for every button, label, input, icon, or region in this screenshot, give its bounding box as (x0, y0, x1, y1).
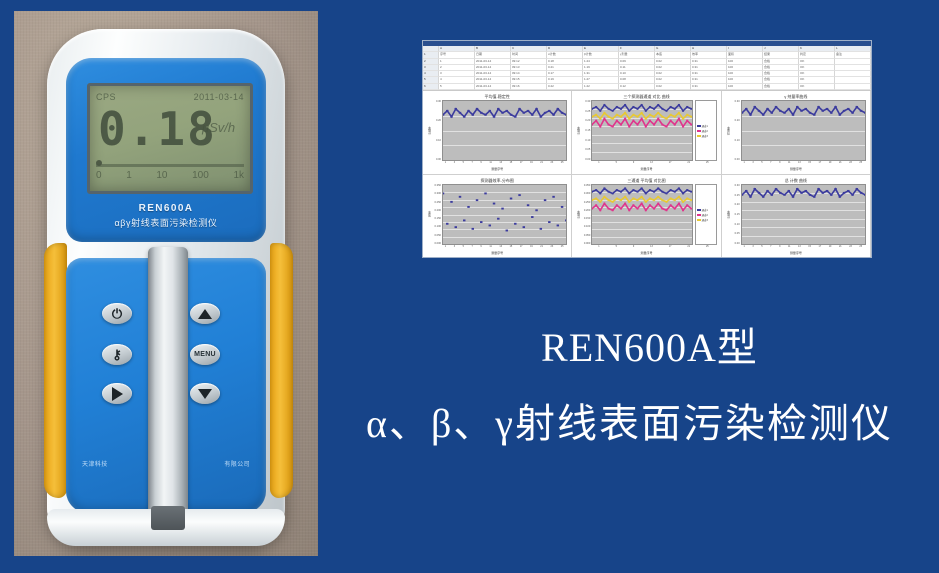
chart-data-point (608, 124, 610, 126)
chart-data-point (682, 126, 684, 128)
chart-data-point (834, 106, 836, 108)
chart-data-point (817, 106, 819, 108)
chart-data-point (557, 108, 559, 110)
chart-data-point (633, 204, 635, 206)
chart-data-point (834, 188, 836, 190)
chart-x-axis-label: 测量序号 (576, 167, 716, 172)
chart-data-point (649, 204, 651, 206)
spreadsheet-cell[interactable] (835, 84, 871, 90)
spreadsheet-cell[interactable]: 1.22 (583, 84, 619, 90)
chart-panel[interactable]: γ 剂量率曲线剂量率0.300.200.100.0013579111315171… (722, 91, 871, 175)
chart-data-point (762, 196, 764, 198)
chart-data-point (565, 114, 566, 116)
chart-series-line (742, 107, 865, 115)
chart-panel[interactable]: 三通道 平均值 对比图计数率0.3500.3000.2500.2000.1500… (572, 175, 721, 258)
chart-data-point (691, 108, 692, 110)
chart-data-point (821, 192, 823, 194)
chart-data-point (662, 199, 664, 201)
lcd-status-left: CPS (96, 92, 116, 102)
chart-data-point (674, 208, 676, 210)
chart-data-point (645, 110, 647, 112)
chart-y-tick: 0.10 (432, 139, 441, 142)
chart-data-point (666, 126, 668, 128)
chart-plot-area (591, 184, 692, 245)
chart-data-point (783, 112, 785, 114)
chart-data-point (847, 190, 849, 192)
chart-body: 计数率0.300.200.100.00 (427, 100, 567, 161)
chart-legend-label: 通道3 (702, 218, 708, 222)
chart-data-point (450, 201, 452, 203)
chart-data-point (604, 118, 606, 120)
chart-y-tick: 0.350 (581, 184, 590, 187)
chart-data-point (592, 116, 593, 118)
chart-data-point (783, 194, 785, 196)
chart-data-point (480, 221, 482, 223)
lcd-unit: μSv/h (202, 120, 235, 135)
chart-data-point (443, 192, 444, 194)
chart-y-axis: 0.3500.3000.2500.2000.1500.1000.0500.000 (432, 184, 442, 245)
chart-data-point (624, 118, 626, 120)
chart-data-point (620, 124, 622, 126)
chart-plot-area (442, 100, 567, 161)
chart-data-point (624, 196, 626, 198)
chart-data-point (658, 112, 660, 114)
device-center-strip (148, 247, 188, 541)
menu-button[interactable]: MENU (190, 344, 220, 365)
chart-y-tick: 0.30 (731, 100, 740, 103)
chart-plot-area (741, 184, 866, 245)
chart-y-tick: 0.30 (581, 100, 590, 103)
chart-data-point (753, 106, 755, 108)
product-model-title: REN600A型 (360, 315, 939, 373)
chart-data-point (484, 192, 486, 194)
chart-data-point (595, 204, 597, 206)
device-branding: REN600A αβγ射线表面污染检测仪 (66, 203, 266, 229)
chart-data-point (821, 110, 823, 112)
chart-data-point (757, 192, 759, 194)
chart-y-tick: 0.150 (432, 217, 441, 220)
chart-data-point (864, 194, 865, 196)
chart-data-point (633, 106, 635, 108)
chart-y-tick: 0.25 (731, 194, 740, 197)
chart-data-point (604, 203, 606, 205)
chart-data-point (600, 201, 602, 203)
chart-legend: 通道1通道2通道3 (695, 100, 717, 161)
chart-series-svg (742, 101, 865, 160)
chart-legend-item: 通道1 (697, 124, 715, 128)
chart-data-point (804, 190, 806, 192)
chart-data-point (476, 108, 478, 110)
chart-data-point (641, 112, 643, 114)
chart-data-point (742, 194, 743, 196)
chart-data-point (592, 124, 593, 126)
software-screenshot: ABCDEFGHIJKL1序号日期时间α计数β计数γ剂量本底效率面积结果判定备注… (422, 40, 872, 258)
chart-data-point (678, 104, 680, 106)
chart-data-point (557, 225, 559, 227)
chart-y-axis-label: 计数率 (576, 184, 581, 245)
chart-data-point (612, 118, 614, 120)
device-bottom-labels: 天津科技 有限公司 (66, 459, 266, 475)
chart-y-axis-label: 效率 (427, 184, 432, 245)
chart-data-point (691, 208, 692, 210)
chart-data-point (691, 124, 692, 126)
chart-data-point (620, 116, 622, 118)
chart-data-point (604, 112, 606, 114)
chart-data-point (670, 120, 672, 122)
chart-data-point (616, 114, 618, 116)
chart-y-tick: 0.20 (432, 119, 441, 122)
chart-data-point (595, 106, 597, 108)
chart-data-point (616, 198, 618, 200)
chart-data-point (662, 116, 664, 118)
chart-data-point (645, 209, 647, 211)
spreadsheet-cell[interactable]: 0.02 (655, 84, 691, 90)
chart-panel[interactable]: 总 计数 曲线计数率0.300.250.200.150.100.050.0013… (722, 175, 871, 258)
chart-series-line (592, 119, 691, 127)
chart-data-point (649, 198, 651, 200)
chart-data-point (608, 208, 610, 210)
chart-data-point (624, 112, 626, 114)
chart-data-point (629, 201, 631, 203)
chart-data-point (612, 110, 614, 112)
chart-legend-label: 通道1 (702, 208, 708, 212)
chart-legend-swatch (697, 125, 701, 127)
chart-data-point (612, 209, 614, 211)
chart-data-point (687, 120, 689, 122)
chart-panel[interactable]: 三个探测器通道 对比 曲线计数率0.300.250.200.150.100.05… (572, 91, 721, 175)
chart-data-point (649, 114, 651, 116)
chart-data-point (443, 114, 444, 116)
chart-data-point (796, 188, 798, 190)
chart-data-point (629, 209, 631, 211)
chart-data-point (670, 198, 672, 200)
chart-data-point (633, 114, 635, 116)
chart-data-point (624, 203, 626, 205)
chart-x-axis-label: 测量序号 (726, 251, 866, 256)
chart-data-point (595, 114, 597, 116)
chart-plot-area (442, 184, 567, 245)
chart-data-point (600, 209, 602, 211)
chart-body: 计数率0.3500.3000.2500.2000.1500.1000.0500.… (576, 184, 716, 245)
spreadsheet-grid[interactable]: ABCDEFGHIJKL1序号日期时间α计数β计数γ剂量本底效率面积结果判定备注… (423, 46, 871, 91)
chart-data-point (455, 108, 457, 110)
up-button[interactable] (190, 303, 220, 324)
chart-y-axis-label: 计数率 (427, 100, 432, 161)
chart-x-axis-label: 测量序号 (427, 251, 567, 256)
chart-data-point (629, 118, 631, 120)
spreadsheet-cell[interactable]: 2011-03-14 (475, 84, 511, 90)
chart-data-point (592, 108, 593, 110)
device-grip-right (270, 243, 293, 498)
chart-body: 计数率0.300.250.200.150.100.050.00 (726, 184, 866, 245)
chart-data-point (612, 126, 614, 128)
chart-data-point (678, 112, 680, 114)
chart-y-tick: 0.15 (731, 213, 740, 216)
chart-series-svg (592, 185, 691, 244)
chart-data-point (670, 106, 672, 108)
chart-data-point (674, 116, 676, 118)
chart-data-point (687, 114, 689, 116)
chart-data-point (649, 120, 651, 122)
chart-data-point (838, 196, 840, 198)
spreadsheet-cell[interactable]: 09:16 (511, 84, 547, 90)
chart-data-point (510, 198, 512, 200)
lcd-scale-tick: 100 (192, 170, 209, 184)
chart-data-point (662, 208, 664, 210)
chart-data-point (808, 194, 810, 196)
chart-body: 效率0.3500.3000.2500.2000.1500.1000.0500.0… (427, 184, 567, 245)
key-icon: ⚷ (112, 348, 122, 361)
lcd-status-right: 2011-03-14 (194, 92, 244, 102)
chart-data-point (600, 118, 602, 120)
chart-y-axis: 0.300.200.100.00 (432, 100, 442, 161)
chart-y-tick: 0.10 (731, 139, 740, 142)
chart-series-svg (592, 101, 691, 160)
chart-panel[interactable]: 探测器效率-分布图效率0.3500.3000.2500.2000.1500.10… (423, 175, 572, 258)
chart-data-point (518, 194, 520, 196)
chart-series-line (443, 109, 566, 117)
chart-data-point (637, 108, 639, 110)
chart-data-point (548, 110, 550, 112)
chart-legend-swatch (697, 130, 701, 132)
chart-data-point (501, 112, 503, 114)
chart-data-point (653, 208, 655, 210)
spreadsheet-cell[interactable]: 0.22 (547, 84, 583, 90)
spreadsheet-cell[interactable]: 5 (439, 84, 475, 90)
chart-data-point (687, 189, 689, 191)
chart-data-point (666, 118, 668, 120)
chart-data-point (859, 110, 861, 112)
chart-data-point (855, 188, 857, 190)
chart-data-point (608, 108, 610, 110)
chart-legend-item: 通道2 (697, 213, 715, 217)
spreadsheet-cell[interactable]: OK (799, 84, 835, 90)
device-bottom-label-right: 有限公司 (224, 459, 250, 475)
chart-data-point (595, 120, 597, 122)
chart-data-point (600, 110, 602, 112)
chart-data-point (674, 191, 676, 193)
chart-data-point (800, 192, 802, 194)
chart-data-point (687, 204, 689, 206)
chart-data-point (774, 188, 776, 190)
chart-data-point (753, 188, 755, 190)
chart-data-point (666, 110, 668, 112)
chart-data-point (645, 201, 647, 203)
chart-data-point (658, 203, 660, 205)
chart-data-point (592, 191, 593, 193)
chart-y-tick: 0.05 (581, 148, 590, 151)
chart-y-tick: 0.300 (432, 192, 441, 195)
lcd-reading: 0.18 (98, 106, 217, 152)
chart-y-tick: 0.100 (432, 225, 441, 228)
chart-data-point (678, 196, 680, 198)
title-block: REN600A型 α、β、γ射线表面污染检测仪 (320, 315, 939, 449)
chart-data-point (666, 192, 668, 194)
chart-data-point (682, 192, 684, 194)
spreadsheet-cell[interactable]: 100 (727, 84, 763, 90)
chart-data-point (616, 189, 618, 191)
lcd-scale: 0 1 10 100 1k (96, 170, 244, 184)
chart-data-point (637, 116, 639, 118)
chart-data-point (825, 108, 827, 110)
chart-y-tick: 0.200 (432, 209, 441, 212)
chart-y-tick: 0.300 (581, 192, 590, 195)
chart-data-point (855, 106, 857, 108)
chart-panel[interactable]: 平均值-稳定性计数率0.300.200.100.0013579111315171… (423, 91, 572, 175)
chart-y-tick: 0.05 (731, 232, 740, 235)
chart-data-point (612, 192, 614, 194)
product-description-title: α、β、γ射线表面污染检测仪 (320, 391, 939, 449)
chart-data-point (595, 189, 597, 191)
chart-data-point (762, 114, 764, 116)
chart-data-point (678, 203, 680, 205)
chart-data-point (523, 112, 525, 114)
chart-data-point (616, 120, 618, 122)
chart-data-point (552, 114, 554, 116)
chart-data-point (817, 188, 819, 190)
chart-data-point (600, 126, 602, 128)
chart-y-tick: 0.150 (581, 217, 590, 220)
chart-legend-item: 通道1 (697, 208, 715, 212)
chart-data-point (459, 112, 461, 114)
chart-data-point (813, 114, 815, 116)
chart-data-point (658, 118, 660, 120)
chart-data-point (608, 199, 610, 201)
chart-data-point (527, 204, 529, 206)
chart-data-point (629, 192, 631, 194)
chart-data-point (749, 114, 751, 116)
chart-legend-swatch (697, 209, 701, 211)
chart-data-point (624, 187, 626, 189)
chart-data-point (674, 108, 676, 110)
chart-data-point (864, 112, 865, 114)
chart-data-point (450, 116, 452, 118)
play-triangle-icon (112, 387, 123, 401)
chart-data-point (791, 196, 793, 198)
chart-data-point (629, 110, 631, 112)
chart-data-point (757, 110, 759, 112)
chart-data-point (493, 116, 495, 118)
chart-data-point (592, 199, 593, 201)
chart-data-point (774, 106, 776, 108)
chart-data-point (691, 116, 692, 118)
chart-data-point (531, 216, 533, 218)
chart-y-axis-label: 计数率 (726, 184, 731, 245)
spreadsheet-row-header[interactable]: 6 (423, 84, 439, 90)
chart-data-point (489, 225, 491, 227)
chart-data-point (847, 108, 849, 110)
chart-data-point (620, 199, 622, 201)
chart-legend-label: 通道2 (702, 129, 708, 133)
chart-y-tick: 0.20 (731, 203, 740, 206)
chart-data-point (531, 114, 533, 116)
chart-data-point (662, 108, 664, 110)
chevron-up-icon (198, 309, 212, 319)
power-icon: ⏻ (112, 307, 122, 320)
chart-data-point (682, 110, 684, 112)
chart-data-point (641, 118, 643, 120)
chart-data-point (804, 108, 806, 110)
chart-data-point (624, 104, 626, 106)
chart-series-line (742, 189, 865, 197)
chart-data-point (561, 206, 563, 208)
chart-data-point (604, 196, 606, 198)
chart-y-tick: 0.350 (432, 184, 441, 187)
chart-data-point (552, 196, 554, 198)
spreadsheet-cell[interactable]: 0.31 (691, 84, 727, 90)
power-button[interactable]: ⏻ (102, 303, 132, 324)
down-button[interactable] (190, 383, 220, 404)
chart-data-point (742, 112, 743, 114)
chart-y-axis-label: 计数率 (576, 100, 581, 161)
chart-y-tick: 0.100 (581, 225, 590, 228)
chart-data-point (600, 192, 602, 194)
device-foot-connector (151, 506, 185, 530)
chart-y-tick: 0.25 (581, 110, 590, 113)
chart-data-point (527, 110, 529, 112)
chart-y-tick: 0.20 (581, 119, 590, 122)
chart-data-point (463, 219, 465, 221)
play-button[interactable] (102, 383, 132, 404)
chart-data-point (463, 116, 465, 118)
spreadsheet-cell[interactable]: 0.12 (619, 84, 655, 90)
chart-data-point (514, 116, 516, 118)
chart-data-point (480, 112, 482, 114)
chart-data-point (653, 108, 655, 110)
chart-y-tick: 0.30 (432, 100, 441, 103)
chart-data-point (770, 194, 772, 196)
chart-data-point (796, 106, 798, 108)
chart-data-point (523, 226, 525, 228)
chart-data-point (637, 199, 639, 201)
key-button[interactable]: ⚷ (102, 344, 132, 365)
chart-data-point (540, 116, 542, 118)
spreadsheet-cell[interactable]: 合格 (763, 84, 799, 90)
chart-series-svg (443, 185, 566, 244)
chart-y-axis: 0.300.200.100.00 (731, 100, 741, 161)
chart-data-point (641, 203, 643, 205)
chart-data-point (645, 126, 647, 128)
chart-plot-area (591, 100, 692, 161)
chart-data-point (472, 114, 474, 116)
chart-data-point (745, 190, 747, 192)
chart-data-point (604, 187, 606, 189)
chart-data-point (637, 208, 639, 210)
chart-y-tick: 0.10 (731, 223, 740, 226)
chart-data-point (548, 221, 550, 223)
chart-data-point (637, 191, 639, 193)
lcd-scale-tick: 10 (156, 170, 167, 184)
chart-data-point (459, 196, 461, 198)
chart-data-point (666, 209, 668, 211)
chart-data-point (670, 189, 672, 191)
chart-data-point (535, 209, 537, 211)
chart-data-point (506, 110, 508, 112)
chart-data-point (674, 199, 676, 201)
chart-data-point (838, 114, 840, 116)
chart-data-point (446, 110, 448, 112)
chart-y-tick: 0.15 (581, 129, 590, 132)
chart-data-point (791, 114, 793, 116)
chart-data-point (678, 187, 680, 189)
chart-data-point (641, 104, 643, 106)
chart-data-point (859, 192, 861, 194)
chart-legend-item: 通道2 (697, 129, 715, 133)
lcd-scale-tick: 1 (126, 170, 132, 184)
chart-data-point (501, 208, 503, 210)
chart-data-point (641, 187, 643, 189)
chart-data-point (484, 114, 486, 116)
